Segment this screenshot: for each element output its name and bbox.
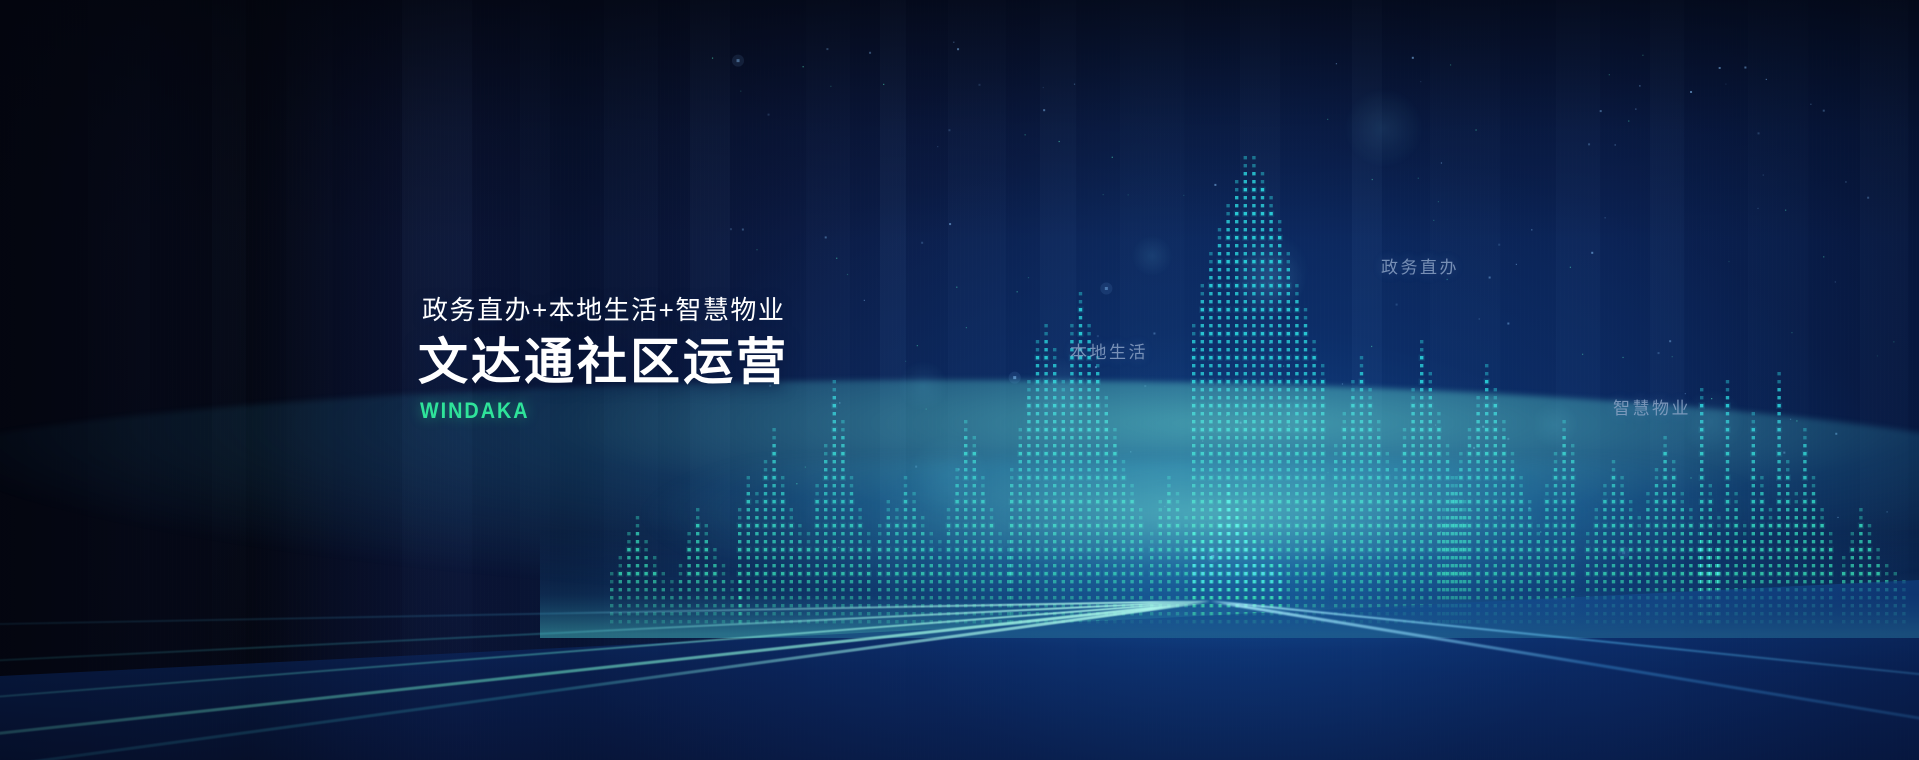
floor-center-glow (0, 460, 1919, 760)
headline-block: 政务直办+本地生活+智慧物业 文达通社区运营 WINDAKA (418, 290, 789, 424)
page-title: 文达通社区运营 (418, 333, 789, 392)
float-label-government: 政务直办 (1381, 253, 1459, 278)
float-label-smart-property: 智慧物业 (1613, 394, 1691, 419)
hero-banner: 政务直办 本地生活 智慧物业 政务直办+本地生活+智慧物业 文达通社区运营 WI… (0, 0, 1919, 760)
tagline: 政务直办+本地生活+智慧物业 (422, 290, 789, 327)
float-label-local-life: 本地生活 (1070, 338, 1148, 363)
brand-wordmark: WINDAKA (420, 398, 752, 424)
